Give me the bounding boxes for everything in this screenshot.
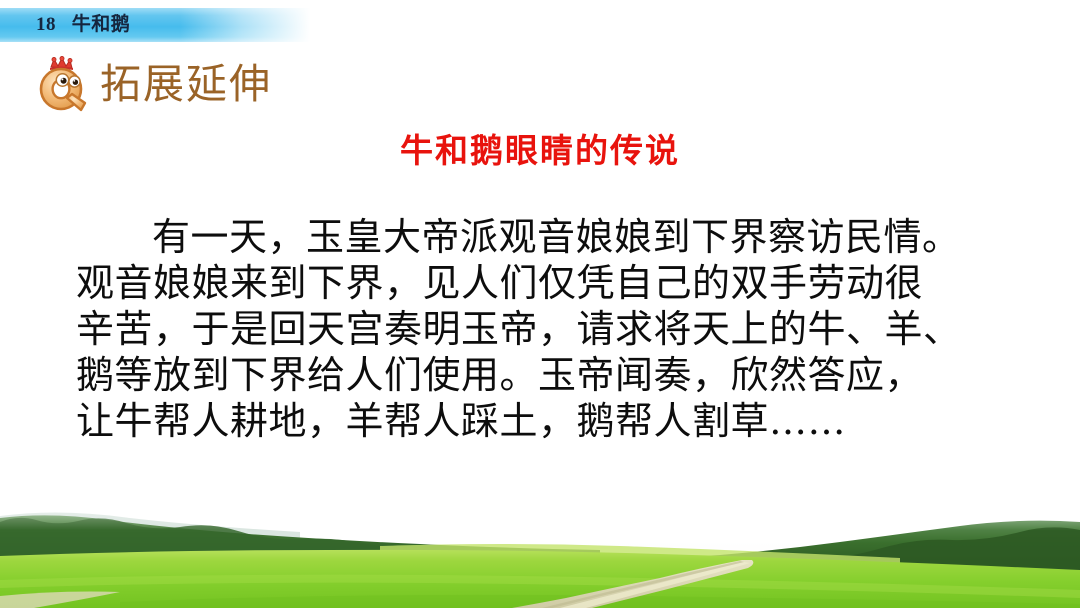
grassland-with-path-photo xyxy=(0,460,1080,608)
slide-root: 18 牛和鹅 xyxy=(0,0,1080,608)
q-mascot-icon xyxy=(36,56,88,112)
section-title: 拓展延伸 xyxy=(100,64,272,105)
lesson-banner-label: 18 牛和鹅 xyxy=(36,10,130,40)
story-title: 牛和鹅眼睛的传说 xyxy=(0,124,1080,172)
story-line: 有一天，玉皇大帝派观音娘娘到下界察访民情。 xyxy=(76,214,1016,260)
section-heading: 拓展延伸 xyxy=(36,56,272,112)
story-line: 鹅等放到下界给人们使用。玉帝闻奏，欣然答应， xyxy=(76,352,1016,398)
story-line: 观音娘娘来到下界，见人们仅凭自己的双手劳动很 xyxy=(76,260,1016,306)
story-line: 辛苦，于是回天宫奏明玉帝，请求将天上的牛、羊、 xyxy=(76,306,1016,352)
story-line: 让牛帮人耕地，羊帮人踩土，鹅帮人割草…… xyxy=(76,398,1016,444)
story-body: 有一天，玉皇大帝派观音娘娘到下界察访民情。 观音娘娘来到下界，见人们仅凭自己的双… xyxy=(76,214,1016,444)
